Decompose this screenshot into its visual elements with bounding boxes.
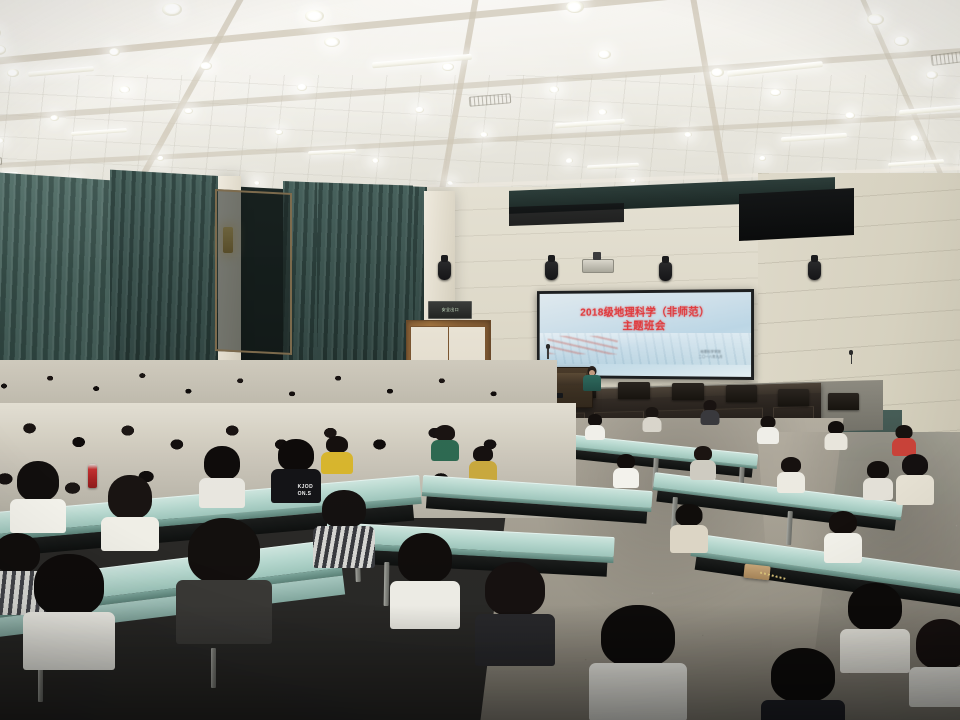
person-torso xyxy=(475,614,555,666)
projection-screen-surface: 2018级地理科学（非师范） 主题班会 地理科学学院 二〇一八年九月 xyxy=(540,292,752,377)
person-torso xyxy=(757,427,779,444)
slide-subtitle: 地理科学学院 二〇一八年九月 xyxy=(699,350,723,362)
person-hair xyxy=(895,425,912,439)
slide-subtitle-line2: 二〇一八年九月 xyxy=(699,356,723,362)
audience-member xyxy=(701,400,719,424)
person-hair xyxy=(694,446,712,461)
person-torso xyxy=(761,700,845,720)
audience-member xyxy=(106,475,154,541)
person-torso xyxy=(176,580,272,644)
audience-member xyxy=(864,461,892,495)
person-torso xyxy=(199,478,245,508)
ceiling-downlight xyxy=(631,179,637,183)
person-hair xyxy=(326,436,348,453)
person-hair xyxy=(435,425,455,441)
exit-sign: 安全出口 xyxy=(428,301,472,319)
audience-member xyxy=(691,446,715,476)
ceiling-downlight xyxy=(297,84,307,91)
ceiling-downlight xyxy=(415,107,424,113)
person-hair xyxy=(829,511,857,534)
person-torso xyxy=(909,667,960,707)
audience-member xyxy=(898,454,932,500)
stage-chair xyxy=(778,389,810,406)
ceiling-downlight xyxy=(109,48,120,56)
stage-spotlight xyxy=(438,261,451,280)
stage-spotlight xyxy=(545,261,558,280)
audience-member xyxy=(643,407,661,431)
person-hair xyxy=(473,446,493,462)
audience-member xyxy=(893,425,915,453)
person-torso xyxy=(271,469,321,503)
person-torso xyxy=(863,478,893,500)
audience-member xyxy=(432,425,458,457)
person-torso xyxy=(840,629,910,673)
person-torso xyxy=(101,517,159,551)
audience-member xyxy=(768,648,838,720)
person-torso xyxy=(613,468,639,488)
person-hair xyxy=(17,461,59,501)
person-hair xyxy=(188,518,260,584)
shirt-print-line1: KJOD xyxy=(298,484,314,492)
person-hair xyxy=(676,504,703,526)
presenter xyxy=(581,366,603,392)
person-torso xyxy=(896,475,934,505)
ceiling-beam xyxy=(0,0,960,80)
slide-title-line1: 2018级地理科学（非师范） xyxy=(548,307,745,321)
person-hair xyxy=(34,554,104,616)
person-torso xyxy=(10,499,66,533)
ceiling-downlight xyxy=(163,3,183,16)
person-torso xyxy=(585,425,605,440)
person-torso xyxy=(824,533,862,563)
window-frame-left xyxy=(215,189,292,355)
slide-title-line2: 主题班会 xyxy=(548,321,745,335)
person-torso xyxy=(589,663,687,720)
audience-member-striped-shirt xyxy=(317,490,371,560)
audience-member xyxy=(826,421,846,447)
microphone xyxy=(851,354,853,364)
audience-member xyxy=(912,619,960,699)
person-torso xyxy=(431,440,459,461)
audience-member xyxy=(614,454,638,484)
handbag xyxy=(743,564,770,581)
ceiling-downlight xyxy=(200,62,212,70)
ceiling-downlight xyxy=(867,14,884,25)
stage-chair xyxy=(672,383,704,400)
ceiling-downlight xyxy=(7,69,19,77)
ceiling-downlight xyxy=(442,63,454,71)
audience-member-yellow-shirt xyxy=(322,436,352,470)
person-torso xyxy=(670,525,708,553)
audience-member xyxy=(845,583,905,663)
cola-bottle xyxy=(88,464,97,488)
ceiling-downlight xyxy=(0,45,7,55)
lecture-hall-photo: 安全出口 2018级地理科学（非师范） 主题班会 地理科学学院 二〇一八年九月 xyxy=(0,0,960,720)
ceiling-downlight xyxy=(760,156,767,161)
slide-title: 2018级地理科学（非师范） 主题班会 xyxy=(548,307,745,334)
person-torso xyxy=(690,460,716,480)
ceiling-downlight xyxy=(566,1,584,13)
microphone xyxy=(547,348,549,359)
person-hair xyxy=(902,454,928,476)
person-hair xyxy=(278,439,314,471)
audience-member xyxy=(14,461,62,525)
audience-member xyxy=(595,605,681,715)
audience-member xyxy=(586,414,604,438)
audience-member xyxy=(29,554,109,664)
person-hair xyxy=(108,475,152,519)
person-hair xyxy=(867,461,889,479)
stage-chair xyxy=(726,385,758,402)
audience-member xyxy=(480,562,550,658)
person-torso xyxy=(777,472,805,493)
person-torso xyxy=(390,581,460,629)
linear-light-panel xyxy=(372,53,472,68)
audience-member xyxy=(672,504,706,546)
person-torso xyxy=(23,612,115,670)
stage-spotlight xyxy=(659,262,672,281)
person-hair xyxy=(485,562,545,616)
presenter-body xyxy=(583,375,601,391)
shirt-print: KJOD ON.S xyxy=(298,484,314,499)
ceiling-downlight xyxy=(711,68,724,77)
stage-spotlight xyxy=(808,261,821,280)
person-hair xyxy=(781,457,801,473)
person-torso xyxy=(824,433,847,450)
desk-leg xyxy=(384,562,390,606)
ceiling-downlight xyxy=(157,156,164,161)
audience-member xyxy=(758,416,778,442)
ceiling-downlight xyxy=(598,50,611,59)
ceiling-projector xyxy=(582,259,614,273)
person-torso xyxy=(643,417,662,432)
ceiling-downlight xyxy=(894,36,909,46)
person-torso xyxy=(321,452,353,474)
person-hair xyxy=(617,454,635,469)
ceiling-downlight xyxy=(324,37,340,47)
audience-member xyxy=(778,457,804,489)
audience-member xyxy=(182,518,266,638)
person-hair xyxy=(916,619,960,669)
person-torso xyxy=(313,526,375,568)
stage-valance xyxy=(739,188,854,241)
shirt-print-line2: ON.S xyxy=(298,491,314,499)
person-hair xyxy=(322,490,366,528)
audience-member xyxy=(394,533,456,619)
person-hair xyxy=(601,605,675,667)
ceiling-downlight xyxy=(306,10,325,22)
desk-leg xyxy=(211,648,216,688)
audience-member xyxy=(202,446,242,502)
person-torso xyxy=(700,410,719,425)
ceiling-downlight xyxy=(0,27,1,39)
audience-member xyxy=(826,511,860,555)
person-hair xyxy=(398,533,452,583)
person-hair xyxy=(771,648,835,702)
person-hair xyxy=(204,446,240,480)
stage-chair xyxy=(618,382,650,399)
audience-member xyxy=(470,446,496,478)
stage-chair xyxy=(828,393,860,410)
person-hair xyxy=(848,583,902,631)
ceiling-downlight xyxy=(926,71,938,79)
